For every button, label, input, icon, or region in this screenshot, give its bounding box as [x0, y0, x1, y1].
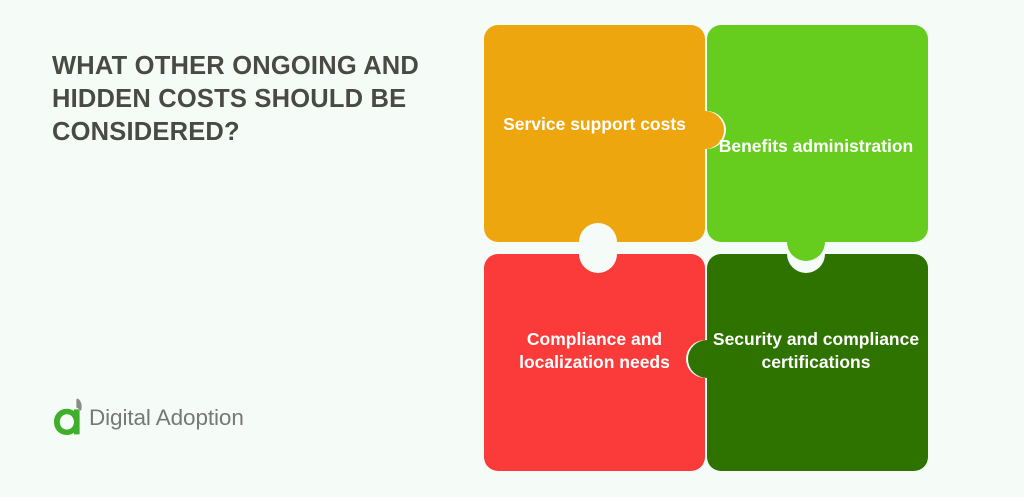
puzzle-piece-compliance-and-localization-needs[interactable] [484, 254, 705, 471]
digital-adoption-leaf-a-logo-icon [52, 398, 86, 438]
puzzle-piece-benefits-administration[interactable] [707, 25, 928, 261]
brand-logo: Digital Adoption [52, 395, 244, 441]
puzzle-piece-service-support-costs[interactable] [484, 25, 724, 242]
brand-name: Digital Adoption [89, 405, 244, 431]
left-column: WHAT OTHER ONGOING AND HIDDEN COSTS SHOU… [52, 0, 452, 497]
puzzle-piece-security-and-compliance-certifications[interactable] [688, 254, 928, 471]
page-title: WHAT OTHER ONGOING AND HIDDEN COSTS SHOU… [52, 50, 432, 149]
jigsaw-diagram: Service support costs Benefits administr… [484, 25, 928, 471]
